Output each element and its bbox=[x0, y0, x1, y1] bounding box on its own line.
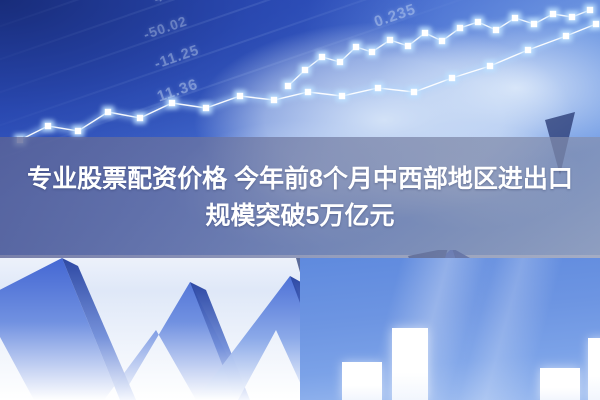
data-point-marker bbox=[422, 30, 428, 36]
data-point-marker bbox=[271, 97, 277, 103]
data-point-marker bbox=[475, 19, 481, 25]
data-point-marker bbox=[285, 83, 291, 89]
data-point-marker bbox=[319, 54, 325, 60]
data-point-marker bbox=[405, 43, 411, 49]
data-point-marker bbox=[593, 21, 599, 27]
data-point-marker bbox=[375, 85, 381, 91]
data-point-marker bbox=[531, 21, 537, 27]
headline-line-2: 规模突破5万亿元 bbox=[206, 201, 395, 232]
data-point-marker bbox=[550, 11, 556, 17]
data-point-marker bbox=[369, 49, 375, 55]
data-point-marker bbox=[487, 63, 493, 69]
data-point-marker bbox=[169, 100, 175, 106]
data-point-marker bbox=[137, 115, 143, 121]
headline-line-1: 专业股票配资价格 今年前8个月中西部地区进出口 bbox=[27, 164, 573, 195]
data-point-marker bbox=[75, 128, 81, 134]
line-series-glow bbox=[288, 10, 590, 86]
data-point-marker bbox=[439, 38, 445, 44]
data-point-marker bbox=[457, 25, 463, 31]
data-point-marker bbox=[387, 37, 393, 43]
data-point-marker bbox=[525, 47, 531, 53]
banner-image: -11.25 45.02 21.584.25 -02.36 4.36 45.02… bbox=[0, 0, 600, 400]
data-point-marker bbox=[512, 15, 518, 21]
data-point-marker bbox=[353, 44, 359, 50]
line-series-glow bbox=[20, 24, 596, 140]
line-series bbox=[20, 24, 596, 140]
data-point-marker bbox=[305, 89, 311, 95]
page-title: 专业股票配资价格 今年前8个月中西部地区进出口 规模突破5万亿元 bbox=[0, 137, 600, 258]
data-point-marker bbox=[237, 93, 243, 99]
data-point-marker bbox=[563, 33, 569, 39]
data-point-marker bbox=[302, 67, 308, 73]
data-point-marker bbox=[339, 93, 345, 99]
data-point-marker bbox=[449, 75, 455, 81]
data-point-marker bbox=[337, 59, 343, 65]
data-point-marker bbox=[203, 105, 209, 111]
data-point-marker bbox=[569, 14, 575, 20]
data-point-marker bbox=[587, 7, 593, 13]
data-point-marker bbox=[411, 89, 417, 95]
data-point-marker bbox=[105, 109, 111, 115]
data-point-marker bbox=[493, 27, 499, 33]
data-point-marker bbox=[45, 123, 51, 129]
